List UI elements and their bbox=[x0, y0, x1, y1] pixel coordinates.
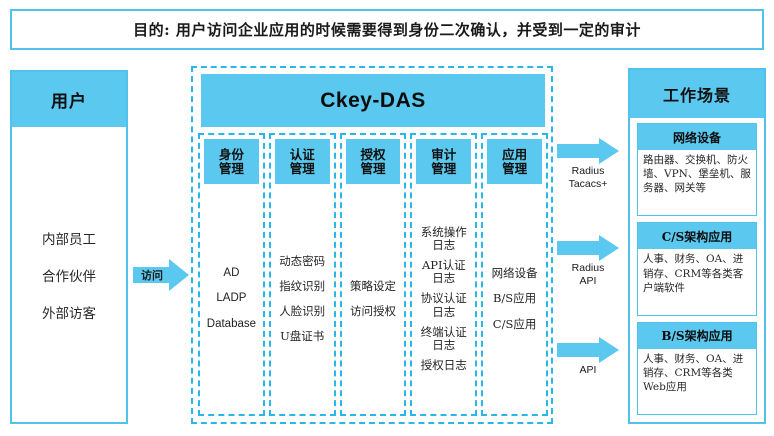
das-column-authorization-management[interactable]: 授权 管理 策略设定 访问授权 bbox=[340, 133, 407, 416]
work-scenarios-title: 工作场景 bbox=[663, 82, 731, 106]
das-module-columns: 身份 管理 AD LADP Database 认证 管理 动态密码 指纹识别 人… bbox=[198, 133, 548, 416]
das-column-header: 授权 管理 bbox=[346, 139, 401, 184]
das-column-items: 网络设备 B/S应用 C/S应用 bbox=[483, 184, 546, 414]
list-item: 内部员工 bbox=[42, 228, 96, 248]
das-column-header-line1: 认证 bbox=[290, 148, 315, 162]
ckey-das-title-bar: Ckey-DAS bbox=[201, 74, 545, 127]
scenario-card-description: 人事、财务、OA、进销存、CRM等各类Web应用 bbox=[643, 352, 751, 395]
das-column-header: 身份 管理 bbox=[204, 139, 259, 184]
arrow-right-icon bbox=[133, 258, 189, 292]
connector-arrow-radius-api: Radius API bbox=[557, 235, 619, 261]
connector-arrow-api: API bbox=[557, 337, 619, 363]
ckey-das-title: Ckey-DAS bbox=[320, 89, 426, 113]
connector-arrow-label: Radius Tacacs+ bbox=[555, 165, 621, 191]
das-column-header-line1: 应用 bbox=[502, 148, 527, 162]
work-scenarios-panel: 工作场景 网络设备 路由器、交换机、防火墙、VPN、堡垒机、服务器、网关等 C/… bbox=[628, 68, 766, 424]
das-column-items: 系统操作 日志 API认证 日志 协议认证 日志 终端认证 日志 授权日志 bbox=[412, 184, 475, 414]
das-column-items: AD LADP Database bbox=[200, 184, 263, 414]
list-item: AD bbox=[223, 267, 239, 280]
das-column-items: 策略设定 访问授权 bbox=[342, 184, 405, 414]
das-column-header-line2: 管理 bbox=[431, 162, 456, 176]
purpose-banner: 目的: 用户访问企业应用的时候需要得到身份二次确认，并受到一定的审计 bbox=[10, 9, 764, 50]
das-column-header-line2: 管理 bbox=[290, 162, 315, 176]
scenario-card-title-bar: C/S架构应用 bbox=[638, 223, 756, 249]
list-item: 授权日志 bbox=[421, 359, 467, 372]
users-panel-title: 用户 bbox=[51, 87, 87, 112]
das-column-identity-management[interactable]: 身份 管理 AD LADP Database bbox=[198, 133, 265, 416]
das-column-items: 动态密码 指纹识别 人脸识别 U盘证书 bbox=[271, 184, 334, 414]
scenario-card-description: 路由器、交换机、防火墙、VPN、堡垒机、服务器、网关等 bbox=[643, 153, 751, 196]
work-scenarios-header: 工作场景 bbox=[630, 70, 764, 118]
das-column-header-line1: 审计 bbox=[431, 148, 456, 162]
list-item: C/S应用 bbox=[493, 318, 537, 331]
list-item: 策略设定 bbox=[350, 280, 396, 293]
connector-arrow-label: API bbox=[555, 364, 621, 377]
users-panel: 用户 内部员工 合作伙伴 外部访客 bbox=[10, 70, 128, 424]
list-item: 访问授权 bbox=[350, 305, 396, 318]
scenario-card-title: C/S架构应用 bbox=[662, 228, 733, 245]
list-item: U盘证书 bbox=[280, 330, 324, 343]
arrow-right-icon bbox=[557, 337, 619, 363]
users-list: 内部员工 合作伙伴 外部访客 bbox=[12, 127, 126, 422]
das-column-header-line2: 管理 bbox=[502, 162, 527, 176]
list-item: B/S应用 bbox=[493, 292, 536, 305]
list-item: 协议认证 日志 bbox=[421, 292, 467, 318]
arrow-right-icon bbox=[557, 138, 619, 164]
scenario-card-title: B/S架构应用 bbox=[661, 327, 732, 344]
scenario-card-description: 人事、财务、OA、进销存、CRM等各类客户端软件 bbox=[643, 252, 751, 295]
purpose-text: 目的: 用户访问企业应用的时候需要得到身份二次确认，并受到一定的审计 bbox=[133, 19, 641, 40]
scenario-card-title: 网络设备 bbox=[673, 129, 721, 146]
list-item: 系统操作 日志 bbox=[421, 226, 467, 252]
work-scenarios-list: 网络设备 路由器、交换机、防火墙、VPN、堡垒机、服务器、网关等 C/S架构应用… bbox=[630, 118, 764, 422]
das-column-header-line2: 管理 bbox=[360, 162, 385, 176]
scenario-card-bs-applications[interactable]: B/S架构应用 人事、财务、OA、进销存、CRM等各类Web应用 bbox=[637, 322, 757, 415]
access-arrow: 访问 bbox=[133, 258, 189, 292]
list-item: 人脸识别 bbox=[279, 305, 325, 318]
das-column-header-line1: 授权 bbox=[360, 148, 385, 162]
das-column-header: 认证 管理 bbox=[275, 139, 330, 184]
das-column-audit-management[interactable]: 审计 管理 系统操作 日志 API认证 日志 协议认证 日志 终端认证 日志 授… bbox=[410, 133, 477, 416]
connector-arrow-label: Radius API bbox=[555, 262, 621, 288]
das-column-authentication-management[interactable]: 认证 管理 动态密码 指纹识别 人脸识别 U盘证书 bbox=[269, 133, 336, 416]
ckey-das-container: Ckey-DAS 身份 管理 AD LADP Database 认证 管理 动态… bbox=[191, 66, 553, 424]
arrow-right-icon bbox=[557, 235, 619, 261]
scenario-card-cs-applications[interactable]: C/S架构应用 人事、财务、OA、进销存、CRM等各类客户端软件 bbox=[637, 222, 757, 315]
list-item: 外部访客 bbox=[42, 302, 96, 322]
scenario-card-title-bar: 网络设备 bbox=[638, 124, 756, 150]
list-item: 终端认证 日志 bbox=[421, 326, 467, 352]
list-item: 动态密码 bbox=[279, 255, 325, 268]
scenario-card-body: 路由器、交换机、防火墙、VPN、堡垒机、服务器、网关等 bbox=[638, 150, 756, 215]
das-column-header-line2: 管理 bbox=[219, 162, 244, 176]
das-column-header: 审计 管理 bbox=[416, 139, 471, 184]
list-item: 指纹识别 bbox=[279, 280, 325, 293]
das-column-header-line1: 身份 bbox=[219, 148, 244, 162]
das-column-application-management[interactable]: 应用 管理 网络设备 B/S应用 C/S应用 bbox=[481, 133, 548, 416]
scenario-card-network-devices[interactable]: 网络设备 路由器、交换机、防火墙、VPN、堡垒机、服务器、网关等 bbox=[637, 123, 757, 216]
users-panel-header: 用户 bbox=[12, 72, 126, 127]
list-item: 合作伙伴 bbox=[42, 265, 96, 285]
scenario-card-body: 人事、财务、OA、进销存、CRM等各类客户端软件 bbox=[638, 249, 756, 314]
list-item: LADP bbox=[216, 292, 246, 305]
das-column-header: 应用 管理 bbox=[487, 139, 542, 184]
scenario-card-title-bar: B/S架构应用 bbox=[638, 323, 756, 349]
list-item: 网络设备 bbox=[492, 267, 538, 280]
list-item: API认证 日志 bbox=[422, 259, 466, 285]
connector-arrow-radius-tacacs: Radius Tacacs+ bbox=[557, 138, 619, 164]
list-item: Database bbox=[207, 318, 256, 331]
scenario-card-body: 人事、财务、OA、进销存、CRM等各类Web应用 bbox=[638, 349, 756, 414]
